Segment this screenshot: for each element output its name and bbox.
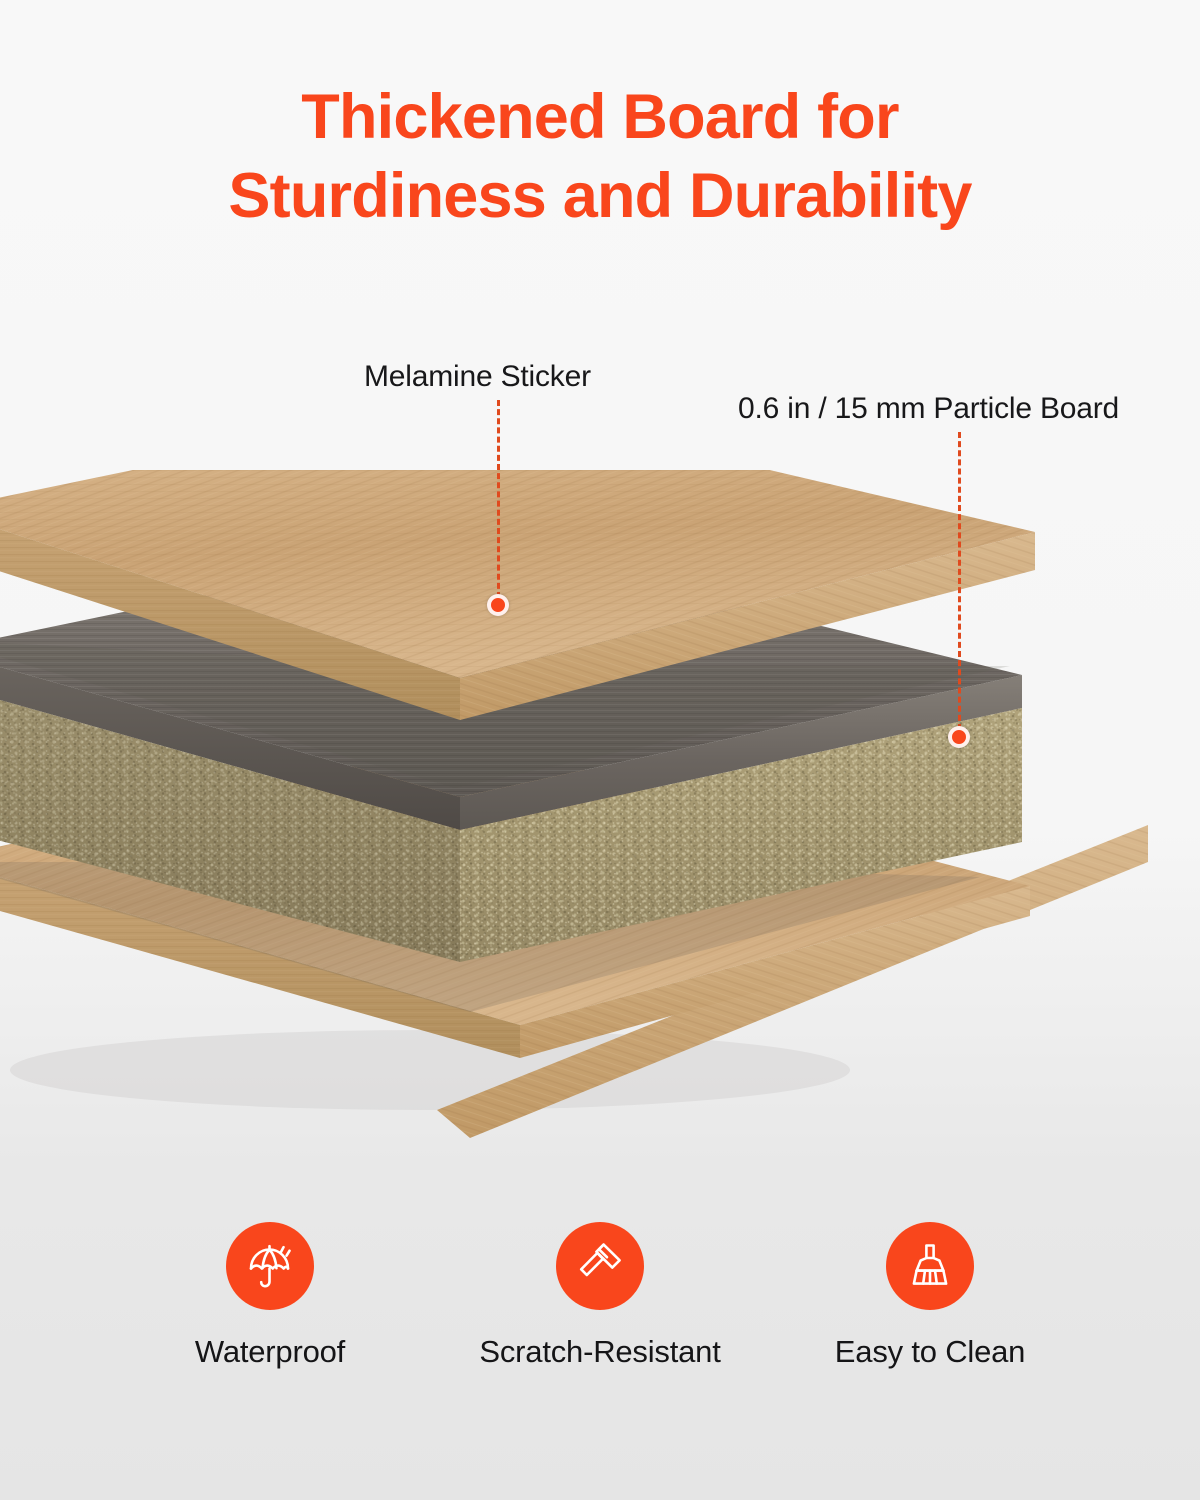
- callout-marker-melamine: [487, 594, 509, 616]
- board-illustration: [0, 470, 1200, 1150]
- broom-icon: [902, 1238, 958, 1294]
- callout-label-melamine-sticker: Melamine Sticker: [364, 360, 591, 394]
- feature-badge-waterproof: [226, 1222, 314, 1310]
- feature-label-waterproof: Waterproof: [195, 1334, 345, 1370]
- callout-leader-line-particle: [958, 432, 961, 730]
- feature-label-scratch-resistant: Scratch-Resistant: [479, 1334, 720, 1370]
- feature-scratch-resistant: Scratch-Resistant: [435, 1222, 765, 1370]
- feature-waterproof: Waterproof: [105, 1222, 435, 1370]
- feature-label-easy-to-clean: Easy to Clean: [835, 1334, 1025, 1370]
- infographic-page: Thickened Board for Sturdiness and Durab…: [0, 0, 1200, 1500]
- hammer-icon: [572, 1238, 628, 1294]
- page-title: Thickened Board for Sturdiness and Durab…: [0, 78, 1200, 237]
- feature-badge-scratch-resistant: [556, 1222, 644, 1310]
- feature-badge-easy-to-clean: [886, 1222, 974, 1310]
- callout-marker-particle: [948, 726, 970, 748]
- board-exploded-svg: [0, 470, 1200, 1150]
- callout-leader-line-melamine: [497, 400, 500, 598]
- feature-row: Waterproof Scratch-Resist: [0, 1222, 1200, 1370]
- feature-easy-to-clean: Easy to Clean: [765, 1222, 1095, 1370]
- callout-label-particle-board: 0.6 in / 15 mm Particle Board: [738, 392, 1119, 426]
- umbrella-icon: [242, 1238, 298, 1294]
